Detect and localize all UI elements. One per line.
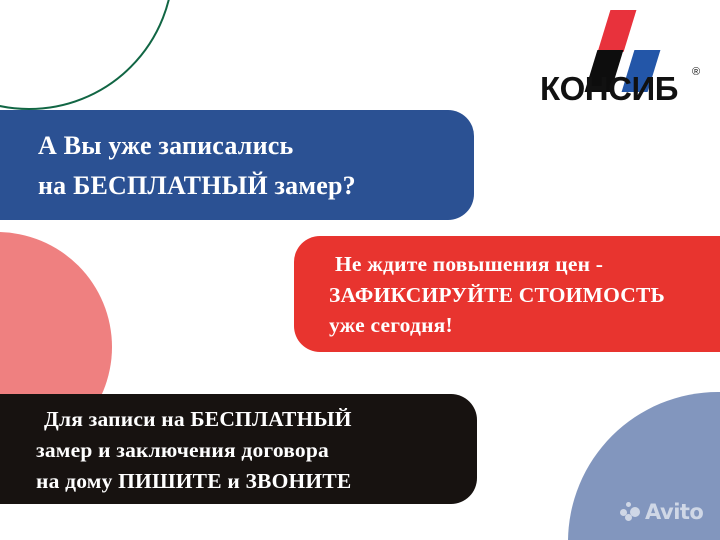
logo-wordmark: КОНСИБ xyxy=(540,72,678,105)
avito-watermark: Avito xyxy=(620,500,703,524)
headline-line-2: на БЕСПЛАТНЫЙ замер? xyxy=(38,166,474,206)
registered-trademark-icon: ® xyxy=(692,67,700,78)
contact-line-1: Для записи на БЕСПЛАТНЫЙ xyxy=(36,404,477,435)
price-lock-callout: Не ждите повышения цен - ЗАФИКСИРУЙТЕ СТ… xyxy=(294,236,720,352)
logo-red-parallelogram-icon xyxy=(598,10,637,52)
price-lock-line-1: Не ждите повышения цен - xyxy=(329,249,720,280)
avito-dots-icon xyxy=(620,502,642,522)
konsib-logo: КОНСИБ ® xyxy=(536,6,712,106)
price-lock-line-2: ЗАФИКСИРУЙТЕ СТОИМОСТЬ xyxy=(329,280,720,311)
poster-canvas: КОНСИБ ® А Вы уже записались на БЕСПЛАТН… xyxy=(0,0,720,540)
contact-line-3: на дому ПИШИТЕ и ЗВОНИТЕ xyxy=(36,466,477,497)
contact-callout: Для записи на БЕСПЛАТНЫЙ замер и заключе… xyxy=(0,394,477,504)
avito-watermark-label: Avito xyxy=(645,502,703,523)
price-lock-line-3: уже сегодня! xyxy=(329,310,720,341)
green-ring-decoration xyxy=(0,0,174,110)
headline-banner: А Вы уже записались на БЕСПЛАТНЫЙ замер? xyxy=(0,110,474,220)
headline-line-1: А Вы уже записались xyxy=(38,126,474,166)
contact-line-2: замер и заключения договора xyxy=(36,435,477,466)
